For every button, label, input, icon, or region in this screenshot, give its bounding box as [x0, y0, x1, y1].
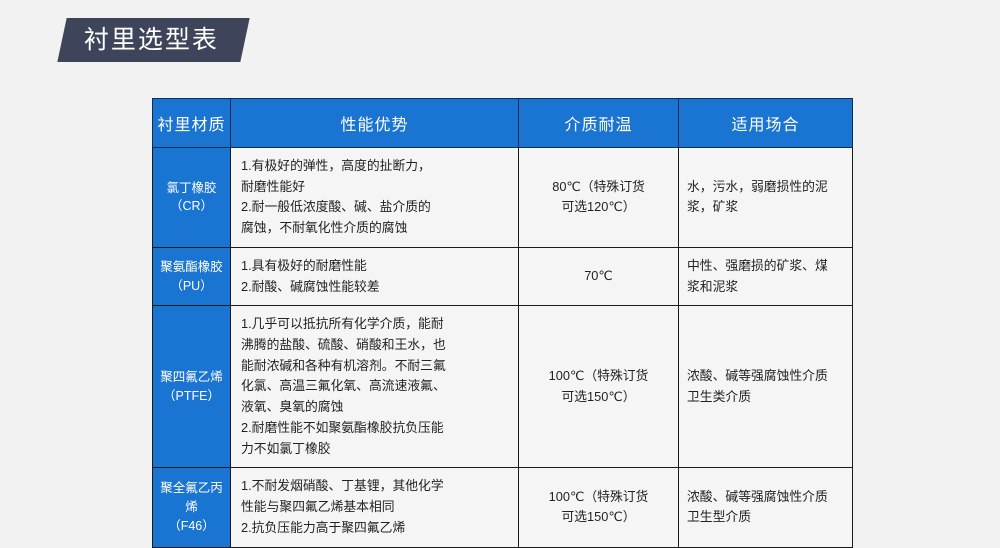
- temperature-line: 可选150℃）: [533, 387, 664, 408]
- advantages-cell: 1.不耐发烟硝酸、丁基锂，其他化学 性能与聚四氟乙烯基本相同 2.抗负压能力高于…: [231, 468, 519, 547]
- advantage-line: 能耐浓碱和各种有机溶剂。不耐三氟: [241, 356, 508, 377]
- material-cell: 氯丁橡胶 （CR）: [153, 148, 231, 248]
- advantages-cell: 1.有极好的弹性，高度的扯断力， 耐磨性能好 2.耐一般低浓度酸、碱、盐介质的 …: [231, 148, 519, 248]
- applications-cell: 浓酸、碱等强腐蚀性介质 卫生型介质: [679, 468, 853, 547]
- table-header: 衬里材质 性能优势 介质耐温 适用场合: [153, 99, 853, 148]
- temperature-line: 可选120℃）: [533, 197, 664, 218]
- application-line: 浓酸、碱等强腐蚀性介质: [687, 366, 844, 387]
- advantage-line: 性能与聚四氟乙烯基本相同: [241, 497, 508, 518]
- column-header-temperature: 介质耐温: [519, 99, 679, 148]
- application-line: 卫生类介质: [687, 387, 844, 408]
- temperature-cell: 70℃: [519, 247, 679, 305]
- advantage-line: 1.不耐发烟硝酸、丁基锂，其他化学: [241, 476, 508, 497]
- material-code: （PTFE）: [155, 387, 228, 406]
- application-line: 卫生型介质: [687, 507, 844, 528]
- advantage-line: 沸腾的盐酸、硫酸、硝酸和王水，也: [241, 335, 508, 356]
- applications-cell: 浓酸、碱等强腐蚀性介质 卫生类介质: [679, 306, 853, 468]
- table-row: 聚四氟乙烯 （PTFE） 1.几乎可以抵抗所有化学介质，能耐 沸腾的盐酸、硫酸、…: [153, 306, 853, 468]
- advantage-line: 2.耐酸、碱腐蚀性能较差: [241, 277, 508, 298]
- temperature-line: 可选150℃）: [533, 507, 664, 528]
- application-line: 水，污水，弱磨损性的泥: [687, 177, 844, 198]
- advantage-line: 2.抗负压能力高于聚四氟乙烯: [241, 518, 508, 539]
- material-cell: 聚全氟乙丙烯 （F46）: [153, 468, 231, 547]
- application-line: 中性、强磨损的矿浆、煤: [687, 256, 844, 277]
- advantage-line: 1.几乎可以抵抗所有化学介质，能耐: [241, 314, 508, 335]
- temperature-line: 70℃: [533, 266, 664, 287]
- applications-cell: 中性、强磨损的矿浆、煤 浆和泥浆: [679, 247, 853, 305]
- temperature-line: 80℃（特殊订货: [533, 177, 664, 198]
- advantage-line: 2.耐一般低浓度酸、碱、盐介质的: [241, 197, 508, 218]
- temperature-cell: 100℃（特殊订货 可选150℃）: [519, 306, 679, 468]
- applications-cell: 水，污水，弱磨损性的泥 浆，矿浆: [679, 148, 853, 248]
- temperature-cell: 80℃（特殊订货 可选120℃）: [519, 148, 679, 248]
- material-name: 氯丁橡胶: [155, 179, 228, 198]
- material-name: 聚全氟乙丙烯: [155, 479, 228, 517]
- application-line: 浆和泥浆: [687, 277, 844, 298]
- table-row: 氯丁橡胶 （CR） 1.有极好的弹性，高度的扯断力， 耐磨性能好 2.耐一般低浓…: [153, 148, 853, 248]
- temperature-cell: 100℃（特殊订货 可选150℃）: [519, 468, 679, 547]
- application-line: 浓酸、碱等强腐蚀性介质: [687, 487, 844, 508]
- material-cell: 聚四氟乙烯 （PTFE）: [153, 306, 231, 468]
- temperature-line: 100℃（特殊订货: [533, 487, 664, 508]
- column-header-applications: 适用场合: [679, 99, 853, 148]
- advantage-line: 化氯、高温三氟化氧、高流速液氟、: [241, 376, 508, 397]
- advantage-line: 1.具有极好的耐磨性能: [241, 256, 508, 277]
- material-code: （PU）: [155, 277, 228, 296]
- advantage-line: 2.耐磨性能不如聚氨酯橡胶抗负压能: [241, 418, 508, 439]
- page-title-banner: 衬里选型表: [57, 18, 249, 62]
- table-body: 氯丁橡胶 （CR） 1.有极好的弹性，高度的扯断力， 耐磨性能好 2.耐一般低浓…: [153, 148, 853, 548]
- advantages-cell: 1.几乎可以抵抗所有化学介质，能耐 沸腾的盐酸、硫酸、硝酸和王水，也 能耐浓碱和…: [231, 306, 519, 468]
- material-code: （F46）: [155, 517, 228, 536]
- material-cell: 聚氨酯橡胶 （PU）: [153, 247, 231, 305]
- material-name: 聚氨酯橡胶: [155, 258, 228, 277]
- temperature-line: 100℃（特殊订货: [533, 366, 664, 387]
- table-row: 聚氨酯橡胶 （PU） 1.具有极好的耐磨性能 2.耐酸、碱腐蚀性能较差 70℃ …: [153, 247, 853, 305]
- material-code: （CR）: [155, 197, 228, 216]
- column-header-advantages: 性能优势: [231, 99, 519, 148]
- table-row: 聚全氟乙丙烯 （F46） 1.不耐发烟硝酸、丁基锂，其他化学 性能与聚四氟乙烯基…: [153, 468, 853, 547]
- lining-selection-table: 衬里材质 性能优势 介质耐温 适用场合 氯丁橡胶 （CR） 1.有极好的弹性，高…: [152, 98, 853, 548]
- advantage-line: 耐磨性能好: [241, 177, 508, 198]
- advantage-line: 液氧、臭氧的腐蚀: [241, 397, 508, 418]
- material-name: 聚四氟乙烯: [155, 368, 228, 387]
- advantages-cell: 1.具有极好的耐磨性能 2.耐酸、碱腐蚀性能较差: [231, 247, 519, 305]
- advantage-line: 腐蚀，不耐氧化性介质的腐蚀: [241, 218, 508, 239]
- page-title: 衬里选型表: [84, 28, 219, 53]
- advantage-line: 1.有极好的弹性，高度的扯断力，: [241, 156, 508, 177]
- table-header-row: 衬里材质 性能优势 介质耐温 适用场合: [153, 99, 853, 148]
- advantage-line: 力不如氯丁橡胶: [241, 439, 508, 460]
- application-line: 浆，矿浆: [687, 197, 844, 218]
- column-header-material: 衬里材质: [153, 99, 231, 148]
